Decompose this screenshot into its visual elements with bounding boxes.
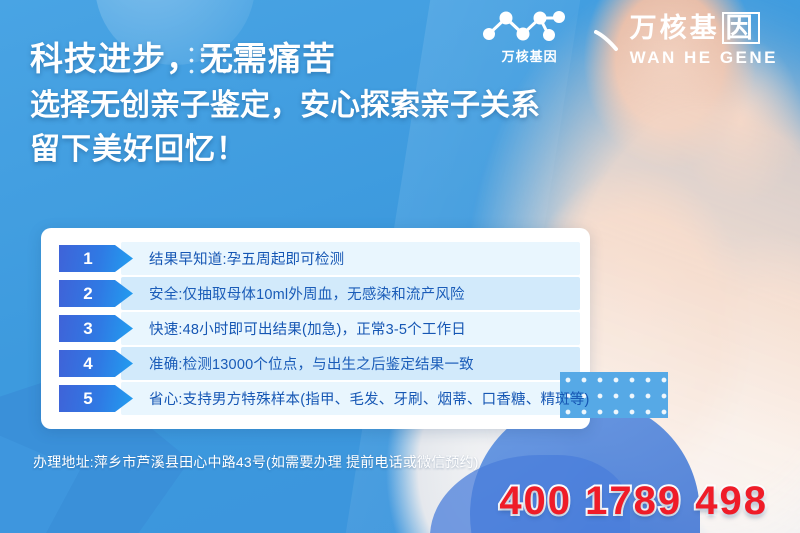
feature-text: 准确:检测13000个位点，与出生之后鉴定结果一致 <box>149 353 474 374</box>
feature-row-2: 2 安全:仅抽取母体10ml外周血，无感染和流产风险 <box>41 277 590 310</box>
features-card: 1 结果早知道:孕五周起即可检测 2 安全:仅抽取母体10ml外周血，无感染和流… <box>41 228 590 429</box>
office-address: 办理地址:萍乡市芦溪县田心中路43号(如需要办理 提前电话或微信预约) <box>33 452 479 472</box>
logo-name-cn: 万核基 <box>630 15 720 42</box>
feature-text: 安全:仅抽取母体10ml外周血，无感染和流产风险 <box>149 283 465 304</box>
logo-name-cn-boxed: 因 <box>722 12 760 44</box>
headline-block: 科技进步，无需痛苦 选择无创亲子鉴定，安心探索亲子关系 留下美好回忆！ <box>30 40 690 168</box>
feature-row-1: 1 结果早知道:孕五周起即可检测 <box>41 242 590 275</box>
headline-line-3: 留下美好回忆！ <box>30 132 690 167</box>
feature-text: 省心:支持男方特殊样本(指甲、毛发、牙刷、烟蒂、口香糖、精斑等) <box>149 388 590 409</box>
feature-row-3: 3 快速:48小时即可出结果(加急)，正常3-5个工作日 <box>41 312 590 345</box>
feature-text: 结果早知道:孕五周起即可检测 <box>149 248 344 269</box>
feature-row-4: 4 准确:检测13000个位点，与出生之后鉴定结果一致 <box>41 347 590 380</box>
hotline-phone-number[interactable]: 400 1789 498 <box>499 479 768 524</box>
feature-text: 快速:48小时即可出结果(加急)，正常3-5个工作日 <box>149 318 466 339</box>
headline-line-2: 选择无创亲子鉴定，安心探索亲子关系 <box>30 88 690 123</box>
poster-root: 万核基因 万核基 因 WAN HE GENE 科技进步，无需痛苦 选择无创亲子鉴… <box>0 0 800 533</box>
dot-pattern-headline <box>186 44 242 80</box>
headline-line-1: 科技进步，无需痛苦 <box>30 40 690 79</box>
feature-row-5: 5 省心:支持男方特殊样本(指甲、毛发、牙刷、烟蒂、口香糖、精斑等) <box>41 382 590 415</box>
